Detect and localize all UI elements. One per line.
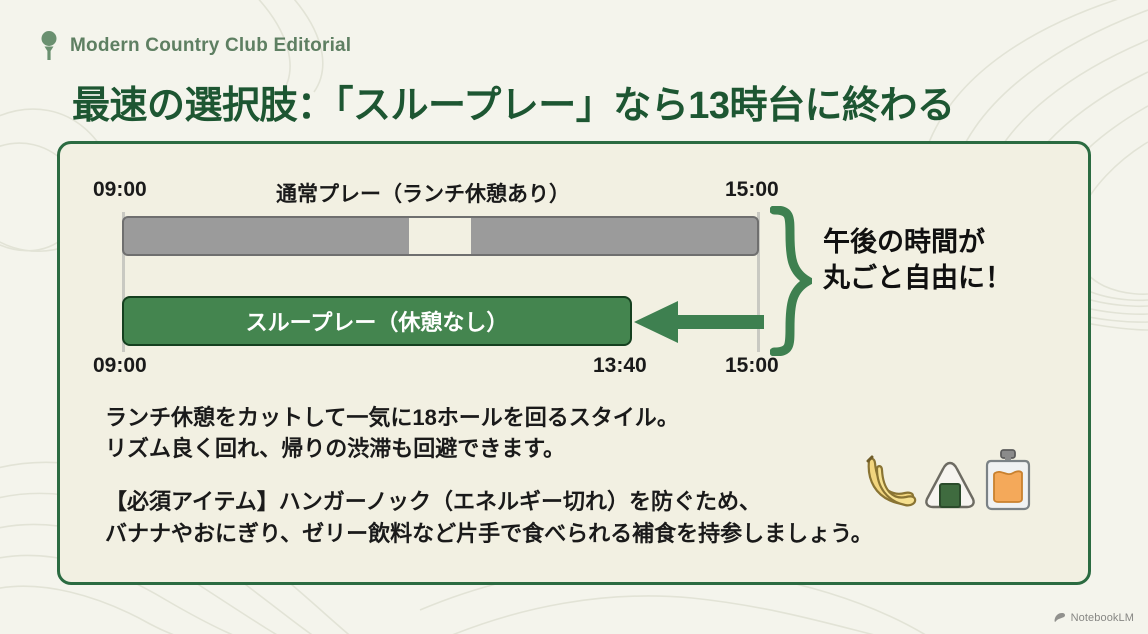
lunch-break-gap — [409, 218, 471, 254]
brand-header: Modern Country Club Editorial — [38, 30, 351, 62]
curly-brace-icon — [770, 206, 812, 356]
through-row-reference-end-time: 15:00 — [725, 354, 779, 378]
afternoon-free-callout: 午後の時間が 丸ごと自由に！ — [823, 224, 1012, 296]
content-card: 09:00 通常プレー（ランチ休憩あり） 15:00 スループレー（休憩なし） … — [57, 141, 1091, 585]
onigiri-icon — [923, 459, 977, 511]
banana-icon — [859, 455, 917, 511]
snack-icon-group — [859, 449, 1033, 511]
paragraph-1-line-1: ランチ休憩をカットして一気に18ホールを回るスタイル。 — [105, 402, 1005, 433]
normal-row-label: 通常プレー（ランチ休憩あり） — [276, 178, 570, 208]
golf-tee-icon — [38, 30, 60, 62]
brand-name: Modern Country Club Editorial — [70, 35, 351, 57]
jelly-drink-pouch-icon — [983, 449, 1033, 511]
notebooklm-icon — [1053, 611, 1066, 624]
callout-line-1: 午後の時間が — [823, 224, 1012, 260]
watermark-text: NotebookLM — [1071, 612, 1134, 624]
through-row-end-time: 13:40 — [593, 354, 647, 378]
normal-row-start-time: 09:00 — [93, 178, 147, 202]
paragraph-2-line-2: バナナやおにぎり、ゼリー飲料など片手で食べられる補食を持参しましょう。 — [105, 518, 1005, 549]
through-play-bar: スループレー（休憩なし） — [122, 296, 632, 346]
callout-line-2: 丸ごと自由に！ — [823, 260, 1012, 296]
slide-root: Modern Country Club Editorial 最速の選択肢：「スル… — [0, 0, 1148, 634]
page-title: 最速の選択肢：「スループレー」なら13時台に終わる — [72, 74, 955, 129]
normal-row-end-time: 15:00 — [725, 178, 779, 202]
normal-play-bar — [122, 216, 759, 256]
watermark: NotebookLM — [1053, 611, 1134, 624]
through-play-bar-label: スループレー（休憩なし） — [246, 305, 509, 337]
timeline-comparison: 09:00 通常プレー（ランチ休憩あり） 15:00 スループレー（休憩なし） … — [60, 144, 1088, 394]
through-row-start-time: 09:00 — [93, 354, 147, 378]
left-arrow-icon — [632, 300, 764, 344]
